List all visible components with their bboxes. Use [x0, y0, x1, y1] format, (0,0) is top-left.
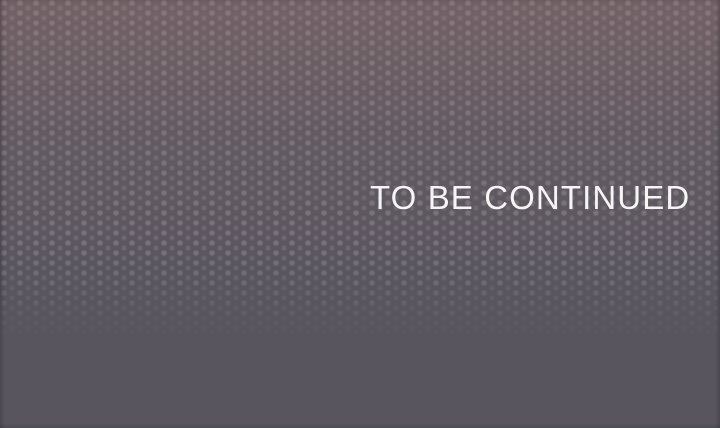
to-be-continued-caption: TO BE CONTINUED — [370, 180, 690, 216]
to-be-continued-panel: TO BE CONTINUED — [0, 0, 720, 428]
